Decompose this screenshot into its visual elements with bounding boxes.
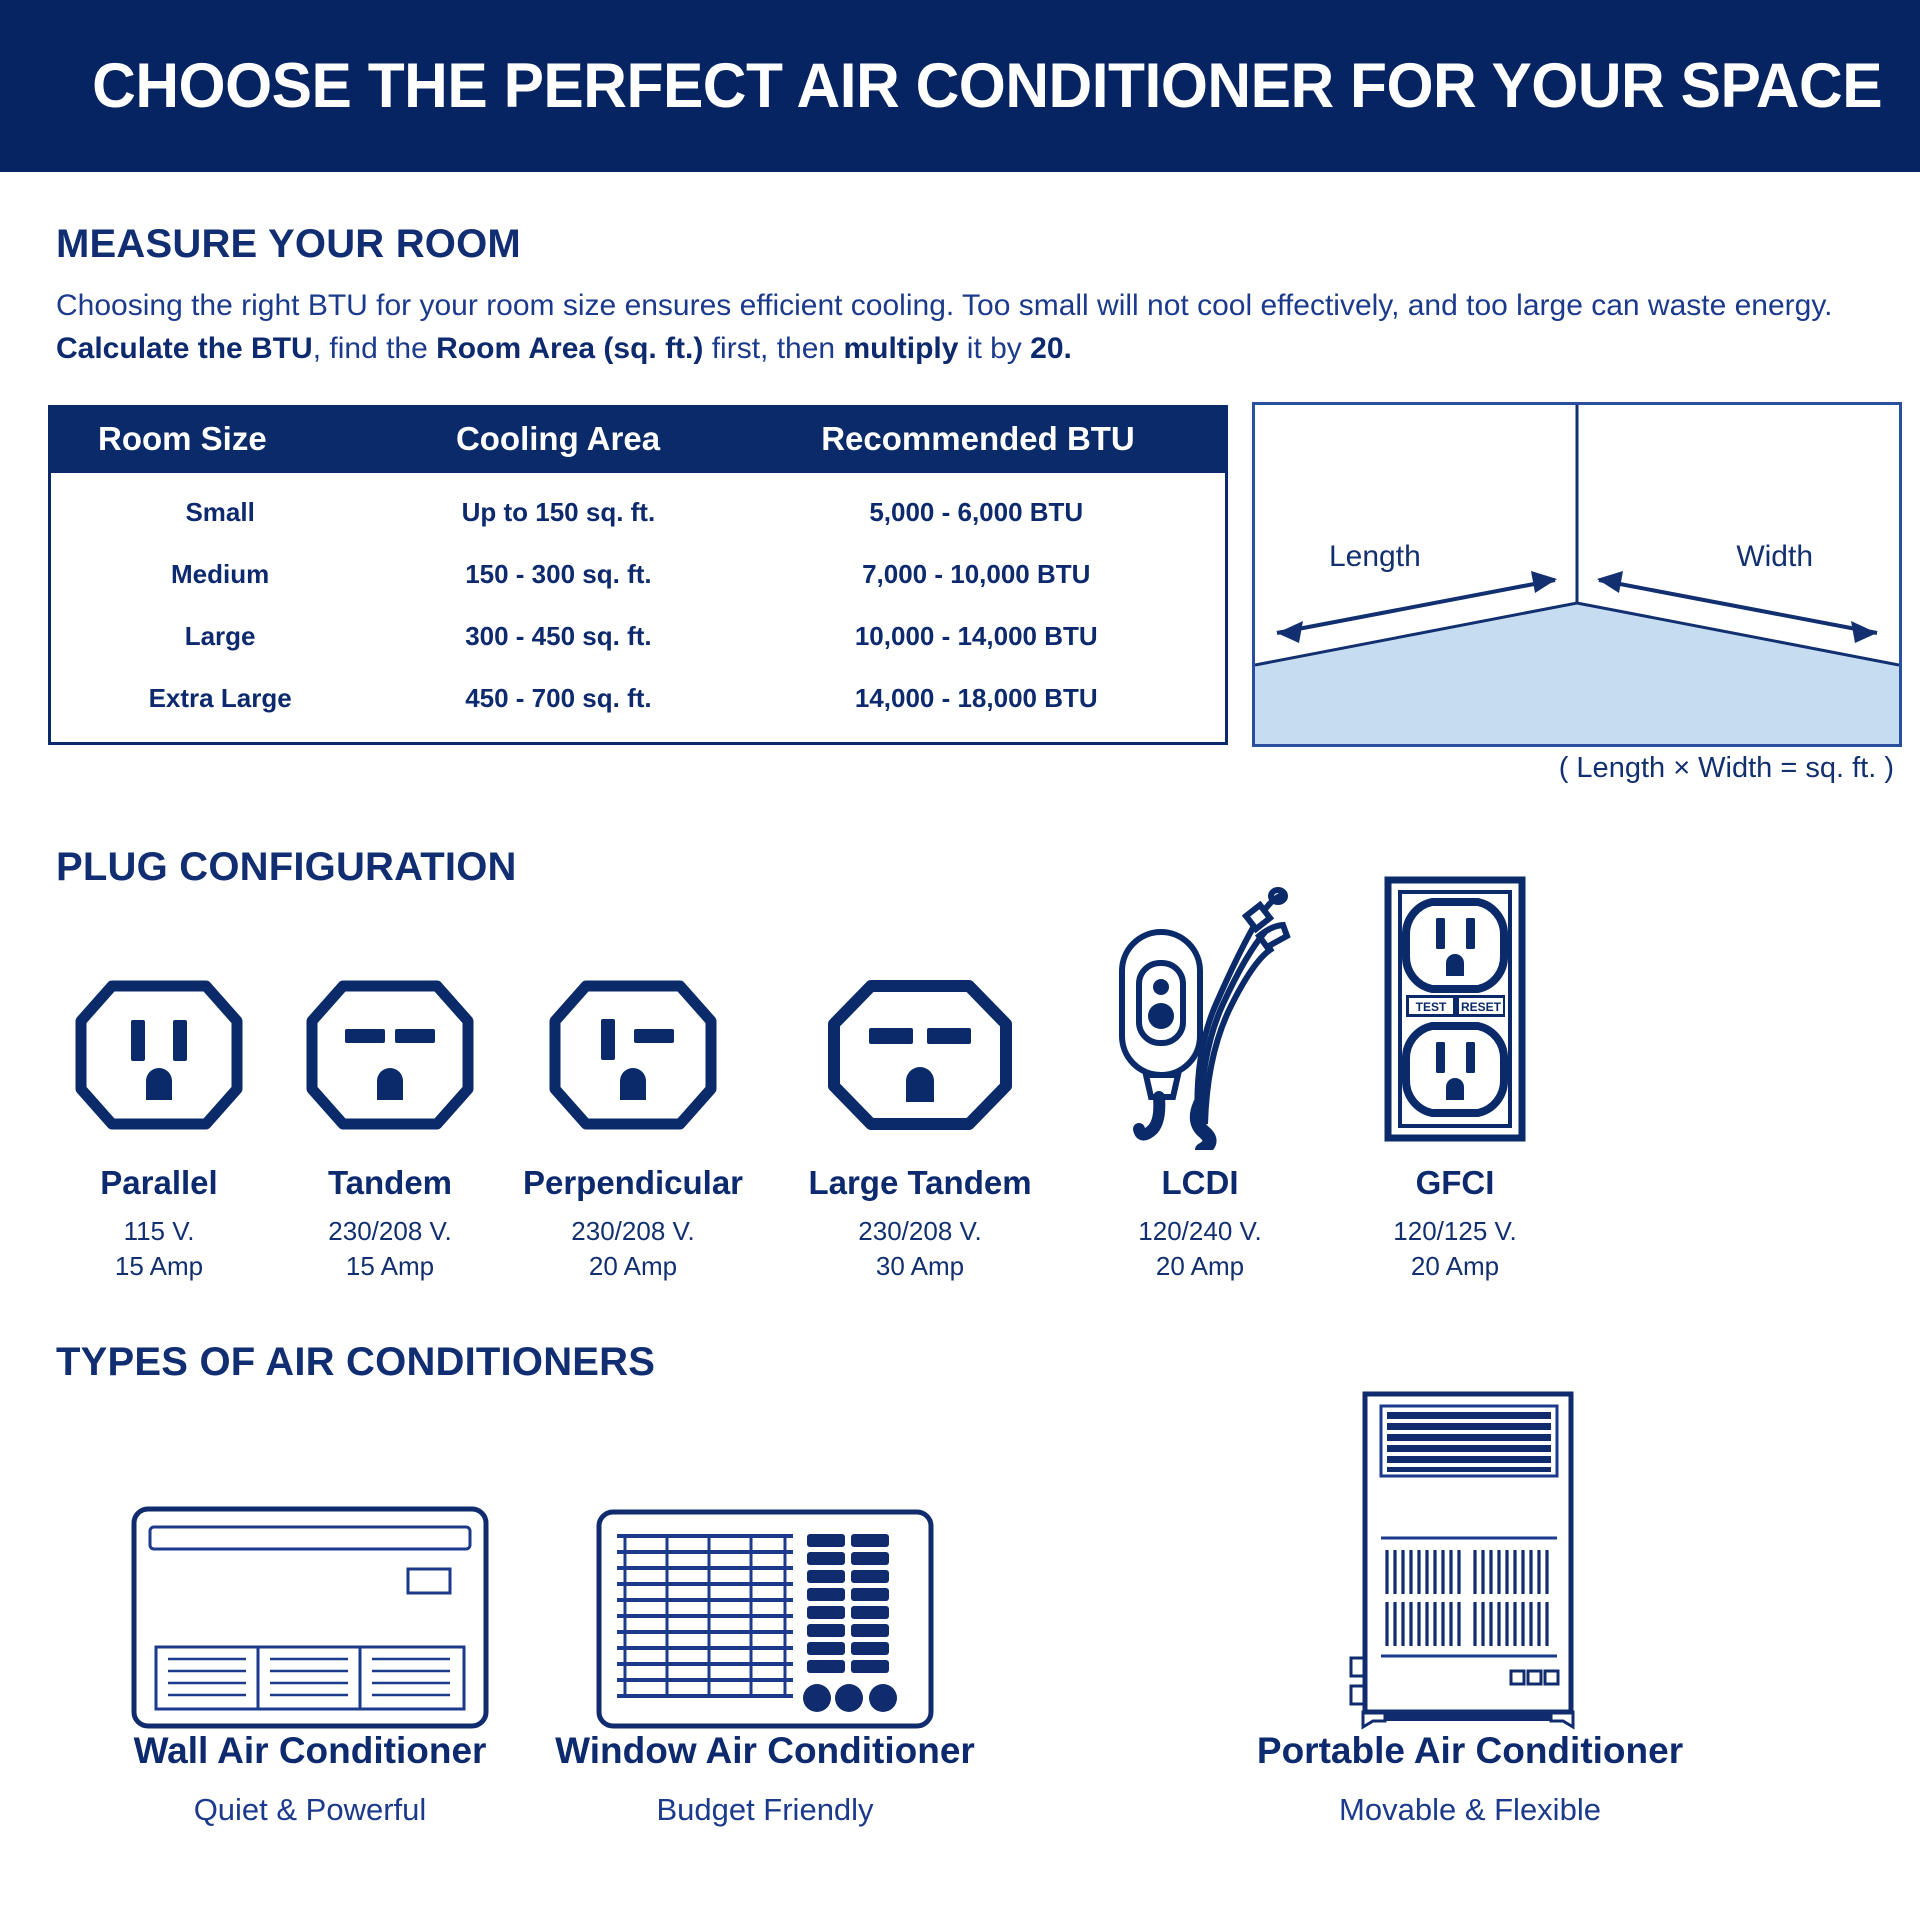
intro-bold-calculate: Calculate the BTU [56, 332, 313, 365]
plug-label-tandem: Tandem [265, 1164, 515, 1202]
intro-text-part1: Choosing the right BTU for your room siz… [56, 289, 1832, 322]
plug-amp: 15 Amp [115, 1251, 203, 1281]
cell-room-size: Small [51, 497, 389, 528]
cell-recommended-btu: 14,000 - 18,000 BTU [728, 683, 1225, 714]
outlet-large-tandem-icon [795, 960, 1045, 1150]
plug-label-perpendicular: Perpendicular [508, 1164, 758, 1202]
section-heading-types-of-air-conditioners: TYPES OF AIR CONDITIONERS [56, 1340, 655, 1385]
plug-card-gfci: TEST RESET GFCI 120/125 V. 20 Amp [1330, 868, 1580, 1284]
plug-spec-tandem: 230/208 V. 15 Amp [265, 1214, 515, 1284]
plug-spec-lcdi: 120/240 V. 20 Amp [1075, 1214, 1325, 1284]
plug-amp: 20 Amp [1411, 1251, 1499, 1281]
plug-amp: 15 Amp [346, 1251, 434, 1281]
btu-sizing-table: Room Size Cooling Area Recommended BTU S… [48, 405, 1228, 745]
room-corner-illustration [1255, 405, 1899, 744]
plug-card-perpendicular: Perpendicular 230/208 V. 20 Amp [508, 960, 758, 1284]
cell-cooling-area: 450 - 700 sq. ft. [389, 683, 727, 714]
table-row: Small Up to 150 sq. ft. 5,000 - 6,000 BT… [51, 483, 1225, 541]
measure-intro-paragraph: Choosing the right BTU for your room siz… [56, 285, 1871, 370]
cell-room-size: Large [51, 621, 389, 652]
intro-text-part3: first, then [703, 332, 843, 365]
plug-label-lcdi: LCDI [1075, 1164, 1325, 1202]
ac-tagline-portable: Movable & Flexible [1070, 1792, 1870, 1828]
cell-recommended-btu: 5,000 - 6,000 BTU [728, 497, 1225, 528]
column-header-room-size: Room Size [48, 420, 388, 458]
plug-spec-large-tandem: 230/208 V. 30 Amp [795, 1214, 1045, 1284]
ac-label-window: Window Air Conditioner [495, 1730, 1035, 1772]
cell-recommended-btu: 7,000 - 10,000 BTU [728, 559, 1225, 590]
intro-bold-twenty: 20. [1030, 332, 1072, 365]
plug-card-tandem: Tandem 230/208 V. 15 Amp [265, 960, 515, 1284]
room-measurement-diagram: Length Width [1252, 402, 1902, 747]
room-width-label: Width [1736, 540, 1813, 574]
page-title: CHOOSE THE PERFECT AIR CONDITIONER FOR Y… [0, 50, 1882, 122]
gfci-test-label: TEST [1416, 1000, 1447, 1014]
plug-amp: 30 Amp [876, 1251, 964, 1281]
table-body: Small Up to 150 sq. ft. 5,000 - 6,000 BT… [48, 473, 1228, 745]
column-header-recommended-btu: Recommended BTU [728, 420, 1228, 458]
section-heading-plug-configuration: PLUG CONFIGURATION [56, 845, 517, 890]
plug-card-lcdi: LCDI 120/240 V. 20 Amp [1075, 868, 1325, 1284]
header-bar: CHOOSE THE PERFECT AIR CONDITIONER FOR Y… [0, 0, 1920, 172]
ac-card-portable: Portable Air Conditioner Movable & Flexi… [1070, 1330, 1870, 1828]
ac-label-portable: Portable Air Conditioner [1070, 1730, 1870, 1772]
plug-spec-perpendicular: 230/208 V. 20 Amp [508, 1214, 758, 1284]
portable-ac-icon [1070, 1330, 1870, 1730]
plug-amp: 20 Amp [1156, 1251, 1244, 1281]
intro-bold-multiply: multiply [843, 332, 958, 365]
plug-voltage: 230/208 V. [328, 1216, 451, 1246]
outlet-perpendicular-icon [508, 960, 758, 1150]
table-row: Medium 150 - 300 sq. ft. 7,000 - 10,000 … [51, 545, 1225, 603]
outlet-parallel-icon [34, 960, 284, 1150]
ac-tagline-window: Budget Friendly [495, 1792, 1035, 1828]
plug-spec-parallel: 115 V. 15 Amp [34, 1214, 284, 1284]
outlet-tandem-icon [265, 960, 515, 1150]
table-header-row: Room Size Cooling Area Recommended BTU [48, 405, 1228, 473]
plug-amp: 20 Amp [589, 1251, 677, 1281]
plug-label-large-tandem: Large Tandem [795, 1164, 1045, 1202]
window-ac-icon [495, 1430, 1035, 1730]
plug-card-parallel: Parallel 115 V. 15 Amp [34, 960, 284, 1284]
gfci-reset-label: RESET [1461, 1000, 1502, 1014]
room-area-formula-caption: ( Length × Width = sq. ft. ) [1252, 752, 1902, 785]
ac-card-window: Window Air Conditioner Budget Friendly [495, 1430, 1035, 1828]
cell-cooling-area: 300 - 450 sq. ft. [389, 621, 727, 652]
plug-voltage: 115 V. [124, 1216, 195, 1246]
column-header-cooling-area: Cooling Area [388, 420, 728, 458]
intro-text-part2: , find the [313, 332, 436, 365]
room-length-label: Length [1329, 540, 1421, 574]
cell-cooling-area: 150 - 300 sq. ft. [389, 559, 727, 590]
plug-label-gfci: GFCI [1330, 1164, 1580, 1202]
table-row: Extra Large 450 - 700 sq. ft. 14,000 - 1… [51, 670, 1225, 728]
intro-text-part4: it by [958, 332, 1030, 365]
plug-card-large-tandem: Large Tandem 230/208 V. 30 Amp [795, 960, 1045, 1284]
infographic-page: CHOOSE THE PERFECT AIR CONDITIONER FOR Y… [0, 0, 1920, 1920]
cell-recommended-btu: 10,000 - 14,000 BTU [728, 621, 1225, 652]
plug-label-parallel: Parallel [34, 1164, 284, 1202]
intro-bold-room-area: Room Area (sq. ft.) [436, 332, 703, 365]
cell-cooling-area: Up to 150 sq. ft. [389, 497, 727, 528]
plug-voltage: 230/208 V. [571, 1216, 694, 1246]
plug-voltage: 120/125 V. [1393, 1216, 1516, 1246]
plug-voltage: 230/208 V. [858, 1216, 981, 1246]
table-row: Large 300 - 450 sq. ft. 10,000 - 14,000 … [51, 608, 1225, 666]
section-heading-measure-your-room: MEASURE YOUR ROOM [56, 222, 521, 267]
plug-spec-gfci: 120/125 V. 20 Amp [1330, 1214, 1580, 1284]
lcdi-plug-icon [1075, 868, 1325, 1150]
plug-voltage: 120/240 V. [1138, 1216, 1261, 1246]
cell-room-size: Medium [51, 559, 389, 590]
cell-room-size: Extra Large [51, 683, 389, 714]
gfci-outlet-icon: TEST RESET [1330, 868, 1580, 1150]
